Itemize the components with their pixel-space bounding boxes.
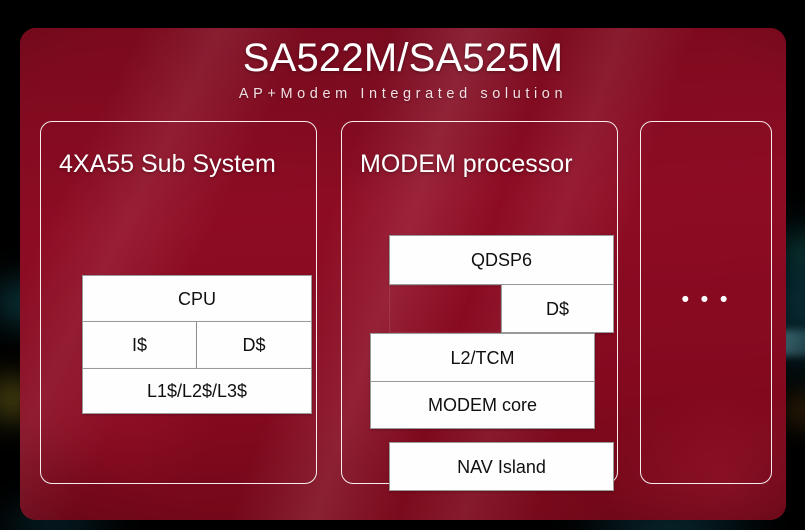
block-l2-tcm[interactable]: L2/TCM: [370, 333, 595, 381]
block-d-cache-modem[interactable]: D$: [501, 285, 614, 333]
panel-4xa55-sub-system[interactable]: 4XA55 Sub System CPU I$ D$ L1$/L2$/L3$: [40, 121, 317, 484]
card-header: SA522M/SA525M AP+Modem Integrated soluti…: [20, 28, 786, 120]
panel-modem-processor[interactable]: MODEM processor QDSP6 D$ L2/TCM MODEM co…: [341, 121, 618, 484]
block-qdsp6[interactable]: QDSP6: [389, 235, 614, 285]
page-title: SA522M/SA525M: [243, 34, 564, 82]
block-cpu[interactable]: CPU: [82, 275, 312, 321]
block-modem-core[interactable]: MODEM core: [370, 381, 595, 429]
block-i-cache[interactable]: I$: [82, 321, 197, 368]
ambient-glow-green: [788, 236, 805, 266]
ellipsis-indicator: • • •: [641, 290, 771, 310]
slide-canvas: SA522M/SA525M AP+Modem Integrated soluti…: [0, 0, 805, 530]
panel-title-modem-processor: MODEM processor: [342, 148, 617, 180]
page-subtitle: AP+Modem Integrated solution: [239, 83, 567, 105]
block-nav-island[interactable]: NAV Island: [389, 442, 614, 491]
block-l1-l2-l3-cache[interactable]: L1$/L2$/L3$: [82, 368, 312, 414]
panel-title-4xa55: 4XA55 Sub System: [41, 148, 316, 180]
panel-more-placeholder[interactable]: • • •: [640, 121, 772, 484]
block-spacer-transparent: [389, 285, 501, 333]
block-d-cache[interactable]: D$: [197, 321, 312, 368]
diagram-card: SA522M/SA525M AP+Modem Integrated soluti…: [20, 28, 786, 520]
